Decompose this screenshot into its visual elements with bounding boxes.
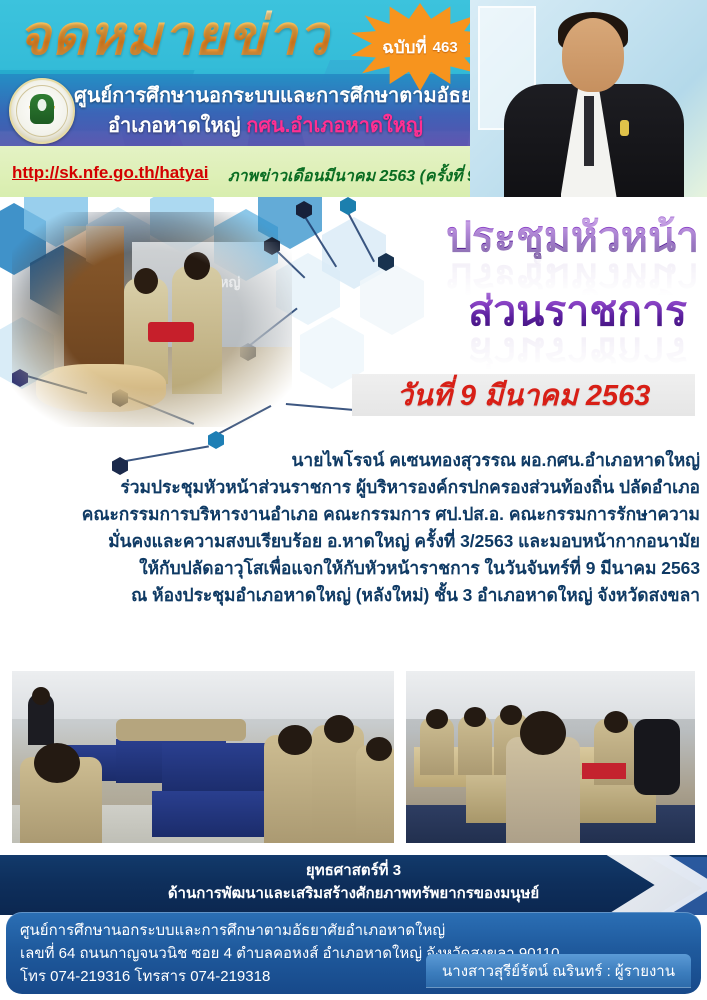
headline-line2-reflection: ส่วนราชการ bbox=[0, 330, 687, 374]
body-line: นายไพโรจน์ คเซนทองสุวรรณ ผอ.กศน.อำเภอหาด… bbox=[14, 447, 700, 474]
body-line: คณะกรรมการบริหารงานอำเภอ คณะกรรมการ ศป.ป… bbox=[14, 501, 700, 528]
district-label: อำเภอหาดใหญ่ bbox=[108, 115, 241, 137]
issue-starburst-badge: ฉบับที่ 463 bbox=[351, 3, 489, 91]
footer-org-name: ศูนย์การศึกษานอกระบบและการศึกษาตามอัธยาศ… bbox=[20, 918, 445, 942]
body-line: มั่นคงและความสงบเรียบร้อย อ.หาดใหญ่ ครั้… bbox=[14, 528, 700, 555]
issue-number: 463 bbox=[433, 39, 458, 56]
reporter-badge: นางสาวสุรีย์รัตน์ ณรินทร์ : ผู้รายงาน bbox=[426, 954, 691, 988]
website-url-link[interactable]: http://sk.nfe.go.th/hatyai bbox=[12, 163, 208, 183]
issue-subcaption: ภาพข่าวเดือนมีนาคม 2563 (ครั้งที่ 9) bbox=[228, 164, 481, 189]
conference-table-photo bbox=[406, 671, 695, 843]
footer-contact-block: ศูนย์การศึกษานอกระบบและการศึกษาตามอัธยาศ… bbox=[6, 912, 701, 994]
branch-label: กศน.อำเภอหาดใหญ่ bbox=[246, 115, 423, 137]
strategy-title: ยุทธศาสตร์ที่ 3 bbox=[0, 858, 707, 882]
nfe-seal-logo-icon bbox=[9, 78, 75, 144]
conference-room-wide-photo bbox=[12, 671, 394, 843]
organization-name-line2: อำเภอหาดใหญ่ กศน.อำเภอหาดใหญ่ bbox=[108, 109, 423, 141]
photo-gallery-row bbox=[0, 655, 707, 855]
body-line: ร่วมประชุมหัวหน้าส่วนราชการ ผู้บริหารองค… bbox=[14, 474, 700, 501]
newsletter-page: จดหมายข่าว จดหมายข่าว ฉบับที่ 463 ศูนย์ก… bbox=[0, 0, 707, 1000]
strategy-description: ด้านการพัฒนาและเสริมสร้างศักยภาพทรัพยากร… bbox=[0, 881, 707, 905]
event-date: วันที่ 9 มีนาคม 2563 bbox=[397, 372, 651, 418]
article-body: นายไพโรจน์ คเซนทองสุวรรณ ผอ.กศน.อำเภอหาด… bbox=[14, 447, 700, 609]
masthead-title: จดหมายข่าว bbox=[18, 8, 330, 63]
issue-label: ฉบับที่ bbox=[382, 34, 426, 61]
strategy-band: ยุทธศาสตร์ที่ 3 ด้านการพัฒนาและเสริมสร้า… bbox=[0, 855, 707, 915]
event-date-band: วันที่ 9 มีนาคม 2563 bbox=[352, 374, 695, 416]
body-line: ณ ห้องประชุมอำเภอหาดใหญ่ (หลังใหม่) ชั้น… bbox=[14, 582, 700, 609]
body-line: ให้กับปลัดอาวุโสเพื่อแจกให้กับหัวหน้าราช… bbox=[14, 555, 700, 582]
footer-phone: โทร 074-219316 โทรสาร 074-219318 bbox=[20, 964, 270, 988]
director-portrait-photo bbox=[470, 0, 707, 197]
headline-line2: ส่วนราชการ bbox=[0, 289, 687, 333]
reporter-name: นางสาวสุรีย์รัตน์ ณรินทร์ : ผู้รายงาน bbox=[442, 959, 675, 983]
headline-line1: ประชุมหัวหน้า bbox=[0, 215, 699, 259]
